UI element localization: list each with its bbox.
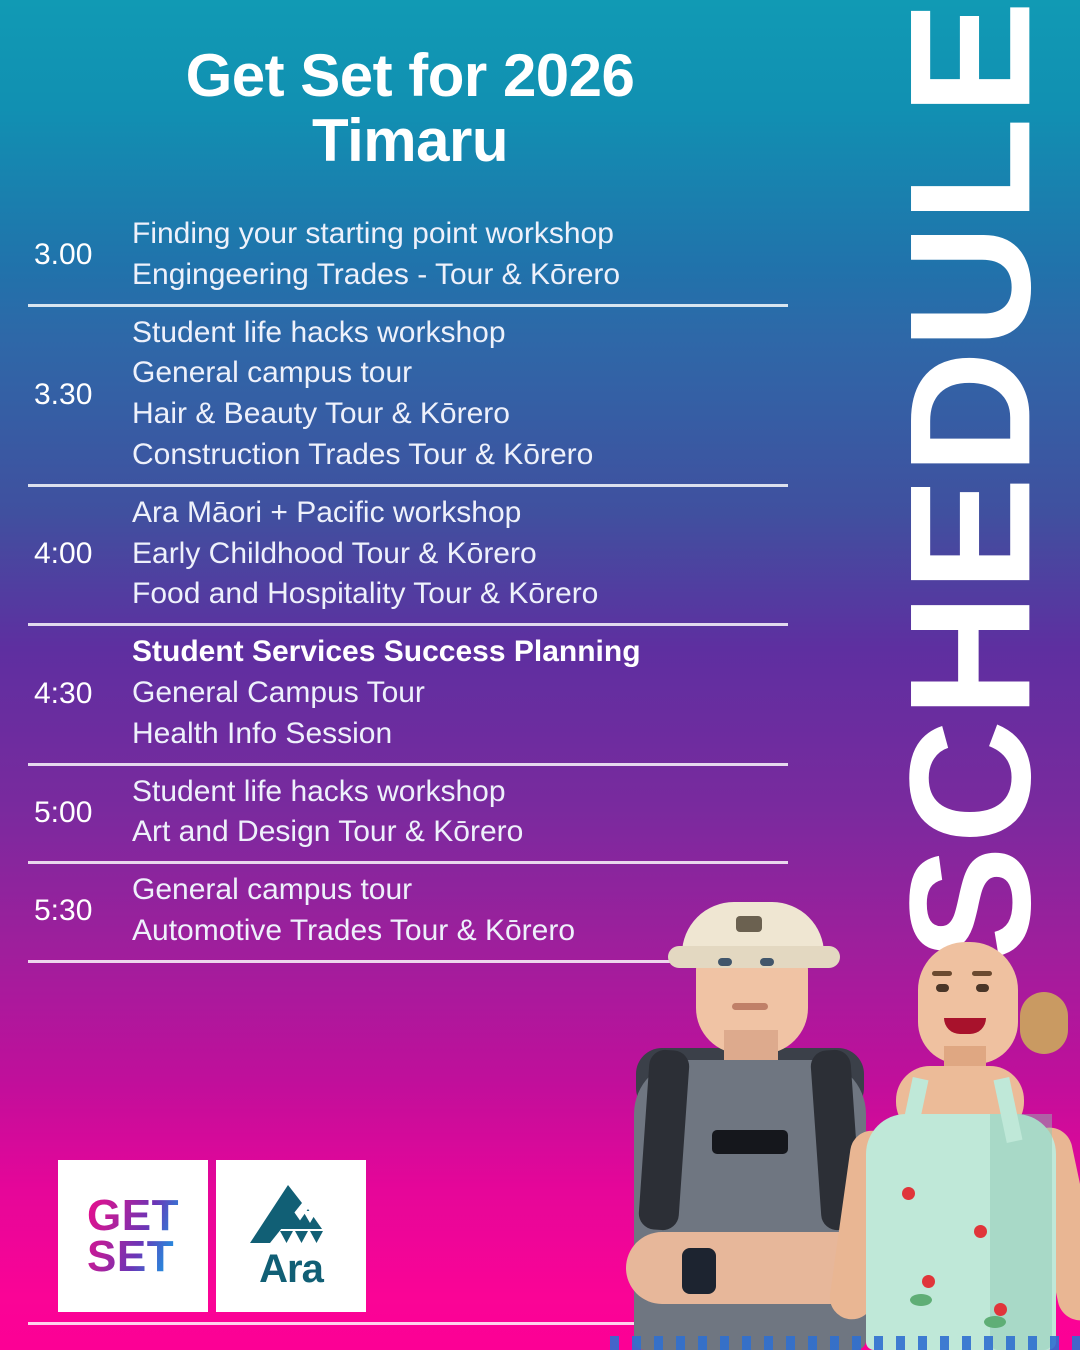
cap-brim — [668, 946, 840, 968]
backpack-clip — [712, 1130, 788, 1154]
schedule-item: Construction Trades Tour & Kōrero — [132, 435, 788, 476]
dress-flower — [902, 1187, 915, 1200]
schedule-row-items: Ara Māori + Pacific workshopEarly Childh… — [132, 493, 788, 615]
schedule-item: Art and Design Tour & Kōrero — [132, 812, 788, 853]
schedule-item: Student Services Success Planning — [132, 632, 788, 673]
schedule-row-time: 3.30 — [28, 378, 132, 411]
woman-brow-right — [972, 971, 992, 976]
title-line-1: Get Set for 2026 — [0, 44, 820, 109]
ara-logo: Ara — [216, 1160, 366, 1312]
dress-leaf — [984, 1316, 1006, 1328]
schedule-row-time: 5:30 — [28, 894, 132, 927]
wristwatch-icon — [682, 1248, 716, 1294]
poster-root: Get Set for 2026 Timaru SCHEDULE 3.00Fin… — [0, 0, 1080, 1350]
schedule-row: 3.00Finding your starting point workshop… — [28, 212, 788, 307]
title-line-2: Timaru — [0, 109, 820, 174]
schedule-row-items: Student life hacks workshopGeneral campu… — [132, 313, 788, 476]
schedule-row-time: 4:00 — [28, 537, 132, 570]
schedule-item: General campus tour — [132, 353, 788, 394]
page-title: Get Set for 2026 Timaru — [0, 44, 820, 174]
logo-lockup: GET SET Ara — [58, 1160, 366, 1312]
schedule-item: Ara Māori + Pacific workshop — [132, 493, 788, 534]
student-in-mint-floral-dress — [844, 930, 1074, 1350]
woman-eye-right — [976, 984, 989, 992]
get-set-logo-line1: GET — [87, 1195, 179, 1236]
woman-brow-left — [932, 971, 952, 976]
schedule-row-time: 5:00 — [28, 796, 132, 829]
ara-triangle-icon — [248, 1183, 334, 1245]
woman-eye-left — [936, 984, 949, 992]
man-eye-right — [760, 958, 774, 966]
man-eye-left — [718, 958, 732, 966]
schedule-item: Student life hacks workshop — [132, 772, 788, 813]
ara-logo-text: Ara — [259, 1249, 323, 1289]
woman-hair-bun — [1020, 992, 1068, 1054]
schedule-item: Student life hacks workshop — [132, 313, 788, 354]
schedule-row-items: Finding your starting point workshopEngi… — [132, 214, 788, 296]
dress-flower — [974, 1225, 987, 1238]
schedule-row: 4:30Student Services Success PlanningGen… — [28, 626, 788, 765]
schedule-vertical-word: SCHEDULE — [856, 0, 1080, 960]
schedule-row-items: Student Services Success PlanningGeneral… — [132, 632, 788, 754]
schedule-item: General Campus Tour — [132, 673, 788, 714]
schedule-item: Engingeering Trades - Tour & Kōrero — [132, 255, 788, 296]
dress-leaf — [910, 1294, 932, 1306]
dress-flower — [994, 1303, 1007, 1316]
schedule-row-items: Student life hacks workshopArt and Desig… — [132, 772, 788, 854]
schedule-row: 3.30Student life hacks workshopGeneral c… — [28, 307, 788, 487]
schedule-row-time: 3.00 — [28, 238, 132, 271]
students-photo — [610, 850, 1080, 1350]
get-set-logo: GET SET — [58, 1160, 208, 1312]
schedule-item: Health Info Session — [132, 714, 788, 755]
schedule-vertical-word-text: SCHEDULE — [889, 0, 1052, 961]
schedule-row-time: 4:30 — [28, 677, 132, 710]
schedule-item: Early Childhood Tour & Kōrero — [132, 534, 788, 575]
schedule-item: Finding your starting point workshop — [132, 214, 788, 255]
man-mouth — [732, 1003, 768, 1010]
cap-logo — [736, 916, 762, 932]
get-set-logo-line2: SET — [87, 1236, 179, 1277]
decorative-dash-strip — [610, 1336, 1080, 1350]
dress-flower — [922, 1275, 935, 1288]
schedule-item: Food and Hospitality Tour & Kōrero — [132, 574, 788, 615]
schedule-row: 4:00Ara Māori + Pacific workshopEarly Ch… — [28, 487, 788, 626]
schedule-item: Hair & Beauty Tour & Kōrero — [132, 394, 788, 435]
